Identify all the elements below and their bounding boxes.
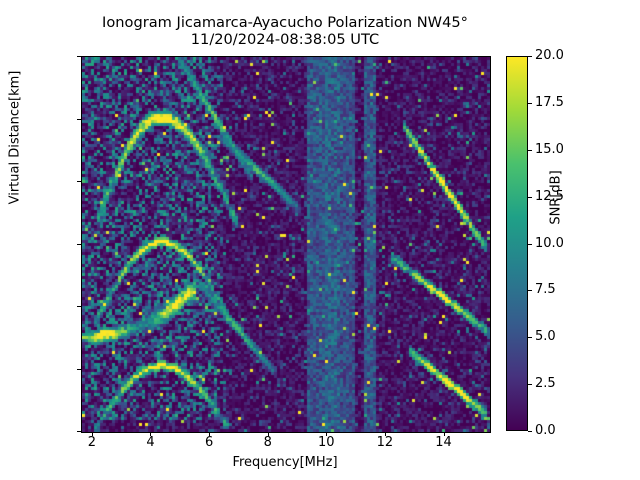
colorbar-tick-mark bbox=[528, 290, 532, 291]
colorbar-tick-label: 0.0 bbox=[535, 424, 556, 437]
x-tick-label: 8 bbox=[248, 436, 288, 449]
y-axis-label: Virtual Distance[km] bbox=[8, 23, 23, 253]
colorbar-tick-mark bbox=[528, 244, 532, 245]
ionogram-figure: Ionogram Jicamarca-Ayacucho Polarization… bbox=[0, 0, 640, 480]
colorbar-tick-mark bbox=[528, 150, 532, 151]
colorbar-tick-mark bbox=[528, 337, 532, 338]
colorbar-tick-mark bbox=[528, 103, 532, 104]
x-tick-label: 10 bbox=[306, 436, 346, 449]
y-tick-mark bbox=[77, 244, 81, 245]
colorbar-tick-mark bbox=[528, 56, 532, 57]
colorbar-tick-mark bbox=[528, 431, 532, 432]
ionogram-heatmap bbox=[82, 57, 490, 432]
x-tick-label: 4 bbox=[130, 436, 170, 449]
title-line-2: 11/20/2024-08:38:05 UTC bbox=[0, 31, 570, 48]
x-tick-mark bbox=[92, 432, 93, 436]
colorbar-tick-label: 7.5 bbox=[535, 283, 556, 296]
y-tick-mark bbox=[77, 369, 81, 370]
y-tick-mark bbox=[77, 431, 81, 432]
title-line-1: Ionogram Jicamarca-Ayacucho Polarization… bbox=[0, 14, 570, 31]
ionogram-plot-area bbox=[81, 56, 491, 433]
x-tick-label: 6 bbox=[189, 436, 229, 449]
x-tick-label: 12 bbox=[365, 436, 405, 449]
colorbar-tick-mark bbox=[528, 197, 532, 198]
x-tick-mark bbox=[268, 432, 269, 436]
x-tick-mark bbox=[209, 432, 210, 436]
colorbar-tick-label: 20.0 bbox=[535, 49, 564, 62]
x-tick-mark bbox=[326, 432, 327, 436]
y-tick-mark bbox=[77, 181, 81, 182]
x-tick-mark bbox=[444, 432, 445, 436]
x-tick-mark bbox=[150, 432, 151, 436]
x-axis-label: Frequency[MHz] bbox=[81, 455, 489, 470]
y-tick-mark bbox=[77, 119, 81, 120]
x-tick-mark bbox=[385, 432, 386, 436]
x-tick-label: 2 bbox=[72, 436, 112, 449]
colorbar-tick-label: 5.0 bbox=[535, 330, 556, 343]
y-tick-mark bbox=[77, 56, 81, 57]
x-tick-label: 14 bbox=[424, 436, 464, 449]
colorbar-tick-label: 17.5 bbox=[535, 96, 564, 109]
colorbar-gradient bbox=[506, 56, 528, 431]
colorbar: 0.02.55.07.510.012.515.017.520.0 bbox=[506, 56, 528, 431]
colorbar-tick-label: 2.5 bbox=[535, 377, 556, 390]
y-tick-mark bbox=[77, 306, 81, 307]
colorbar-label: SNR[dB] bbox=[549, 138, 564, 258]
colorbar-tick-mark bbox=[528, 384, 532, 385]
page-title: Ionogram Jicamarca-Ayacucho Polarization… bbox=[0, 14, 570, 48]
